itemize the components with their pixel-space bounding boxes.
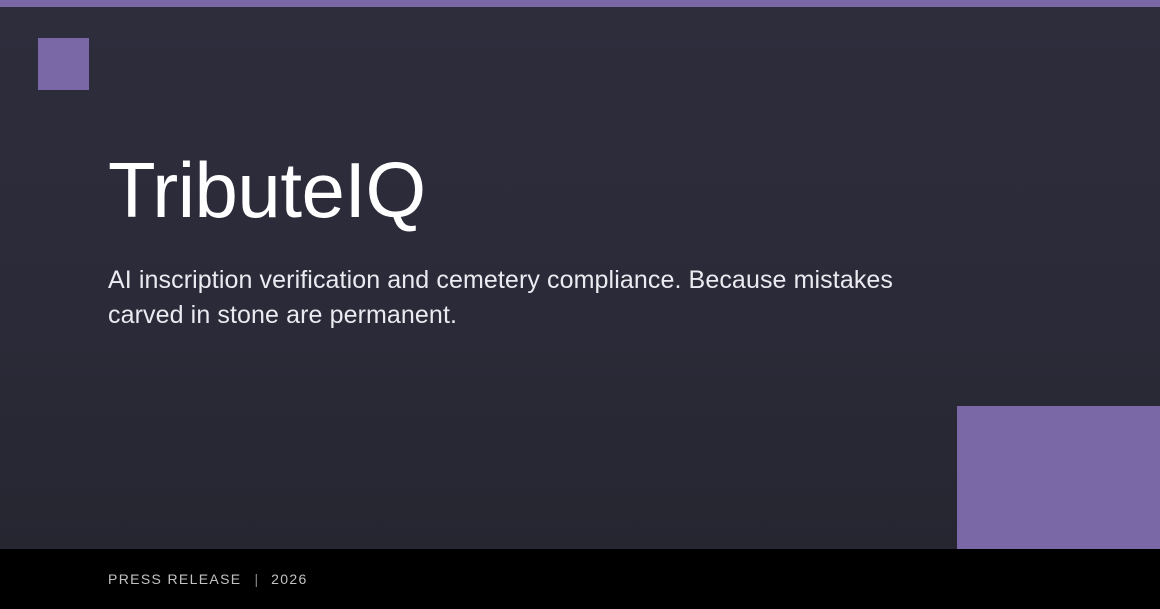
footer-separator: | [255,571,259,587]
footer-year: 2026 [271,571,308,587]
slide-subtitle: AI inscription verification and cemetery… [108,263,970,332]
title-slide: TributeIQ AI inscription verification an… [0,0,1160,609]
top-accent-bar [0,0,1160,7]
footer-meta: PRESS RELEASE | 2026 [0,571,308,587]
block-accent-shape [957,406,1160,549]
footer-document-type: PRESS RELEASE [108,571,242,587]
page-title: TributeIQ [108,150,1008,231]
square-accent-shape [38,38,89,90]
footer-band: PRESS RELEASE | 2026 [0,549,1160,609]
slide-content: TributeIQ AI inscription verification an… [108,150,1008,332]
